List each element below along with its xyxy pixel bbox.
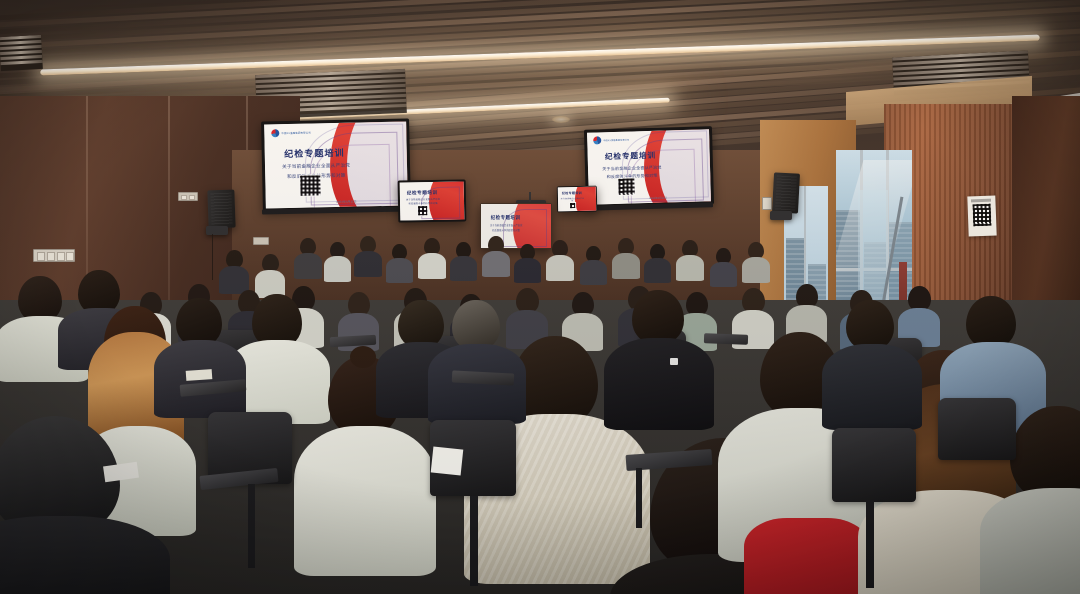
writing-tablet-mid-2[interactable] [704,333,748,345]
hair-bun-icon [350,346,376,368]
paper-handout-2[interactable] [431,447,464,476]
slide-qr-code-icon [618,177,636,195]
polo-logo-icon [670,358,678,365]
slide-far-center: 纪检专题培训 关于当前金融企业全面从严治党 和反腐败斗争的形势和对策 [400,181,465,220]
company-logo-right: 中国XX金融集团有限公司 [593,136,629,145]
left-main-display[interactable]: 中国XX金融集团有限公司 纪检专题培训 关于当前金融企业全面从严治党 和反腐败斗… [261,118,411,211]
chair-leg-4 [636,468,642,528]
wall-speaker-right [772,172,800,213]
logo-text: 中国XX金融集团有限公司 [603,138,629,142]
speaker-bracket-right [770,211,792,220]
slide-left: 中国XX金融集团有限公司 纪检专题培训 关于当前金融企业全面从严治党 和反腐败斗… [264,122,408,209]
downlight-6 [552,116,570,123]
hvac-grille-left [0,35,43,71]
qr-poster-heading [971,199,991,203]
red-garment [744,518,870,594]
power-outlet-plate-mid [178,192,198,201]
chair-leg-3 [866,500,874,588]
far-right-small-display[interactable]: 纪检专题培训 关于当前金融企业全面从严治党 [557,186,597,213]
slide-far-right: 纪检专题培训 关于当前金融企业全面从严治党 [558,187,596,212]
wall-speaker-left [207,190,235,229]
chair-front-3 [832,428,916,502]
logo-mark-icon [593,137,601,145]
slide-qr-code-icon [299,174,321,196]
slide-qr-code-icon [417,205,428,216]
right-main-display[interactable]: 中国XX金融集团有限公司 纪检专题培训 关于当前金融企业全面从严治党 和反腐败斗… [584,126,714,208]
power-outlet-plate-column [762,197,772,210]
slide-qr-code-icon [569,202,576,209]
chair-leg-2 [470,496,478,586]
slide-title: 纪检专题培训 [484,215,527,221]
slide-date: 2024年4月11日 [336,199,357,203]
slide-right: 中国XX金融集团有限公司 纪检专题培训 关于当前金融企业全面从严治党 和反腐败斗… [587,129,711,204]
slide-title: 纪检专题培训 [559,191,584,195]
logo-text: 中国XX金融集团有限公司 [281,131,311,136]
slide-title: 纪检专题培训 [402,190,442,197]
logo-mark-icon [271,129,279,137]
company-logo: 中国XX金融集团有限公司 [271,129,311,138]
paper-handout-3[interactable] [186,369,213,381]
far-center-display[interactable]: 纪检专题培训 关于当前金融企业全面从严治党 和反腐败斗争的形势和对策 [398,179,467,222]
projector-mount-rod [529,192,531,202]
chair-leg-1 [248,484,255,568]
chair-front-4 [938,398,1016,460]
slide-title: 纪检专题培训 [592,150,668,163]
slide-date: 2024年4月11日 [649,196,667,200]
slide-title: 纪检专题培训 [270,145,358,160]
qr-code-icon [973,204,991,226]
photo-scene: 中国XX金融集团有限公司 纪检专题培训 关于当前金融企业全面从严治党 和反腐败斗… [0,0,1080,594]
